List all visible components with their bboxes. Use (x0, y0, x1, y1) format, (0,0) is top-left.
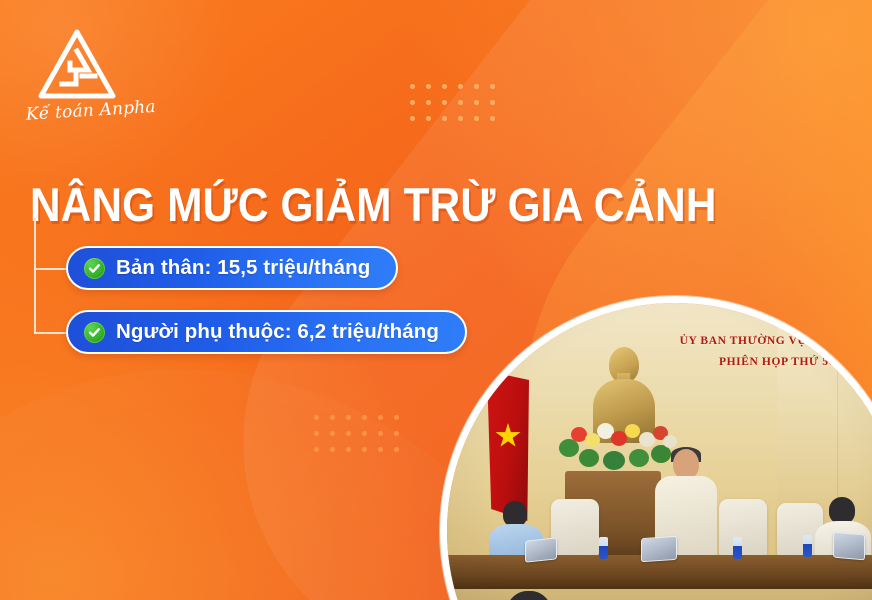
check-circle-icon (84, 322, 105, 343)
meeting-photo: ỦY BAN THƯỜNG VỤ QUỐC HỘI PHIÊN HỌP THỨ … (440, 296, 872, 600)
check-circle-icon (84, 258, 105, 279)
bracket-branch-2 (34, 332, 68, 334)
page-title: NÂNG MỨC GIẢM TRỪ GIA CẢNH (30, 181, 717, 230)
water-bottle (803, 535, 812, 557)
chair (719, 499, 767, 557)
bracket-vertical-line (34, 218, 36, 334)
deduction-pill-self-label: Bản thân: 15,5 triệu/tháng (116, 256, 370, 280)
brand-logo[interactable]: Kế toán Anpha (22, 28, 152, 125)
tablet-device (525, 537, 557, 562)
vietnam-flag (487, 371, 529, 521)
deduction-pill-dependent-label: Người phụ thuộc: 6,2 triệu/tháng (116, 320, 439, 344)
bracket-connector (34, 218, 68, 334)
meeting-photo-image: ỦY BAN THƯỜNG VỤ QUỐC HỘI PHIÊN HỌP THỨ … (447, 303, 872, 600)
anpha-triangle-logo-icon (38, 28, 152, 107)
water-bottle (599, 537, 608, 559)
water-bottle (733, 537, 742, 559)
bracket-branch-1 (34, 268, 68, 270)
flag-star (495, 423, 521, 449)
dot-grid-top (408, 82, 498, 124)
deduction-pill-self[interactable]: Bản thân: 15,5 triệu/tháng (66, 246, 398, 290)
foreground-person (483, 591, 575, 600)
banner-line-2: PHIÊN HỌP THỨ 50 (662, 352, 872, 373)
chair (551, 499, 599, 557)
tablet-device (833, 532, 865, 561)
tablet-device (641, 536, 677, 563)
deduction-pill-dependent[interactable]: Người phụ thuộc: 6,2 triệu/tháng (66, 310, 467, 354)
dot-grid-bottom (312, 413, 402, 455)
poster-canvas: Kế toán Anpha NÂNG MỨC GIẢM TRỪ GIA CẢNH… (0, 0, 872, 600)
meeting-banner-text: ỦY BAN THƯỜNG VỤ QUỐC HỘI PHIÊN HỌP THỨ … (662, 331, 872, 374)
speaker-head (673, 449, 699, 479)
banner-line-1: ỦY BAN THƯỜNG VỤ QUỐC HỘI (662, 331, 872, 352)
